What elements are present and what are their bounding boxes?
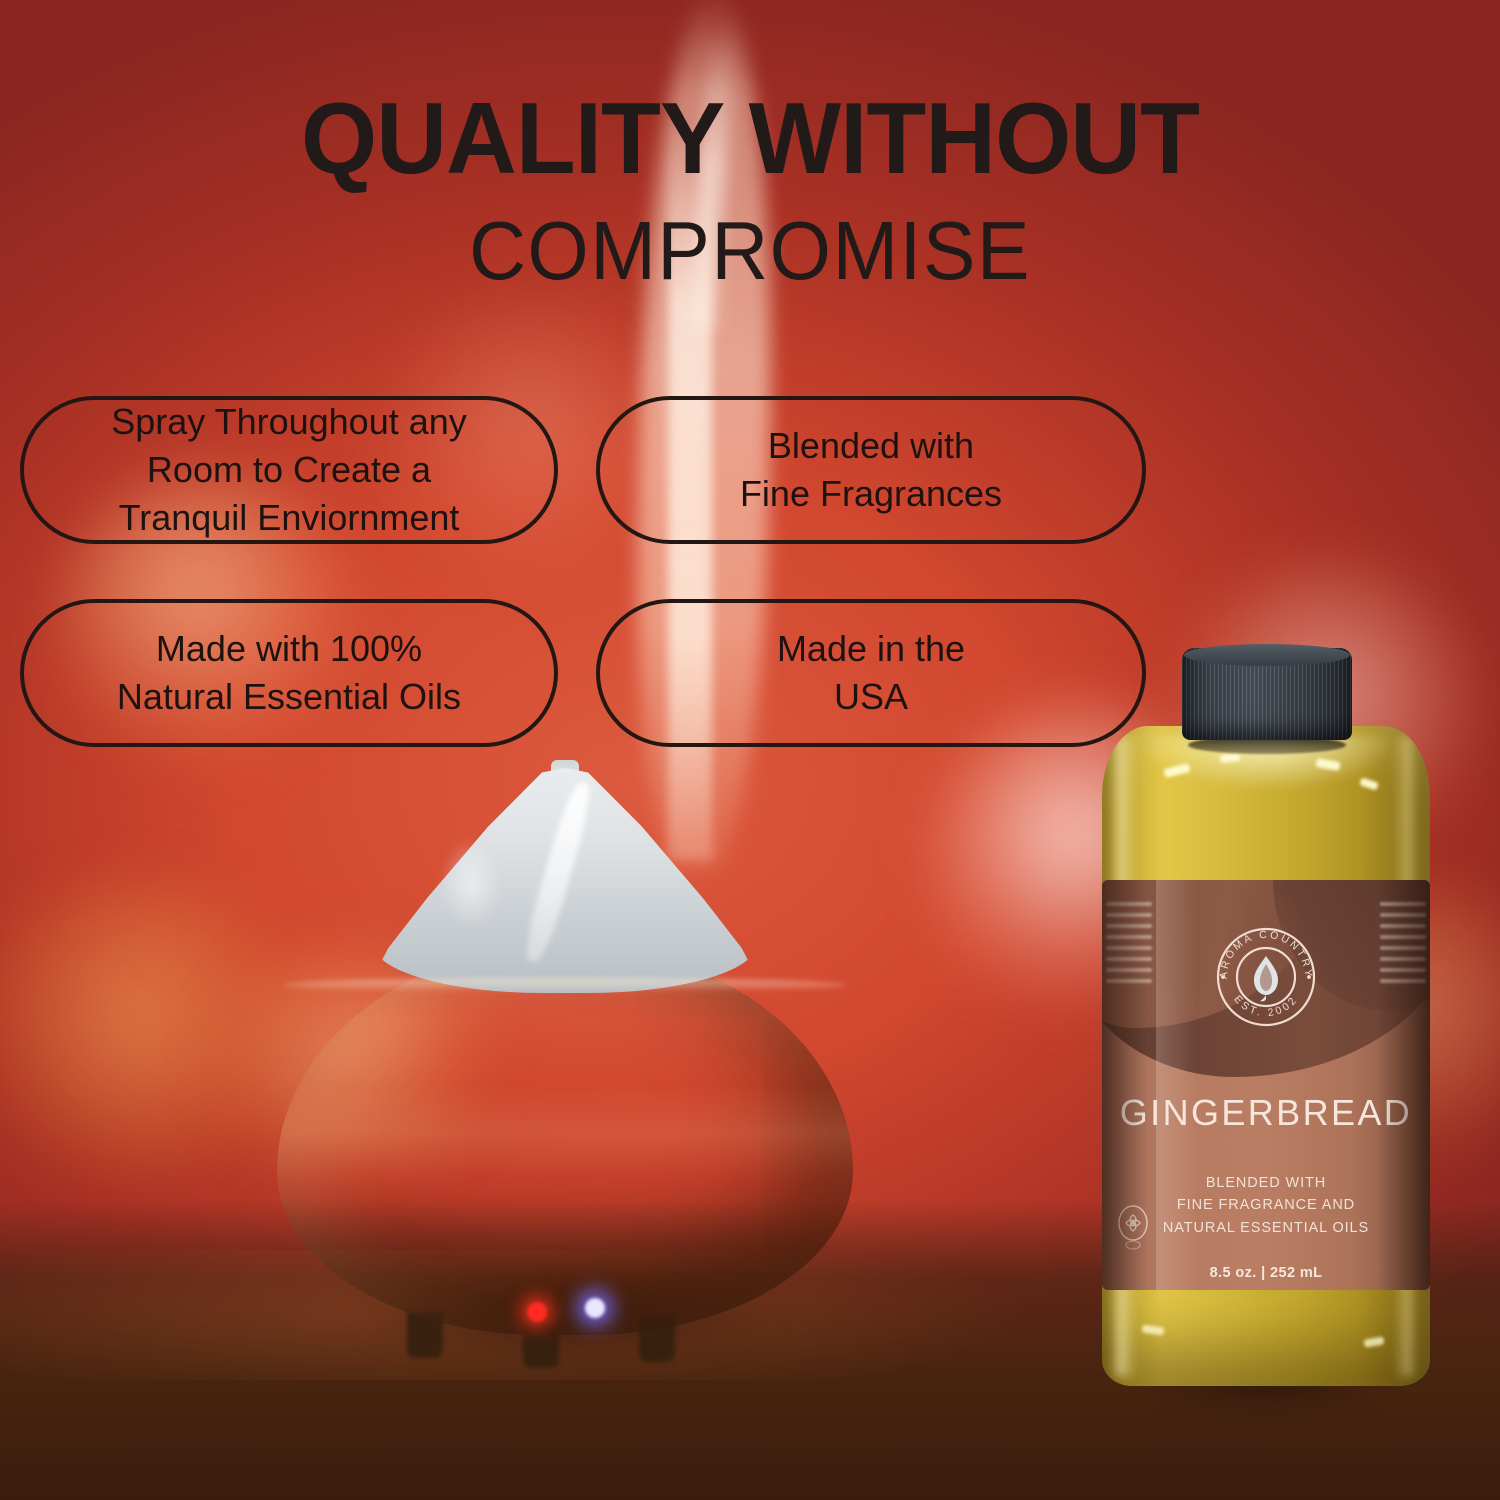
oil-bottle: AROMA COUNTRY EST. 2002 bbox=[1096, 640, 1436, 1410]
feature-pill-made-in-usa: Made in the USA bbox=[596, 599, 1146, 747]
headline-line-1: QUALITY WITHOUT bbox=[23, 88, 1478, 191]
vegan-seal-icon bbox=[1114, 1202, 1152, 1254]
diffuser-gloss-highlight bbox=[441, 838, 501, 930]
product-name: GINGERBREAD bbox=[1102, 1092, 1430, 1134]
headline-line-2: COMPROMISE bbox=[38, 199, 1463, 303]
brand-logo-badge: AROMA COUNTRY EST. 2002 bbox=[1213, 924, 1319, 1030]
feature-pill-spray-throughout-room: Spray Throughout any Room to Create a Tr… bbox=[20, 396, 558, 544]
flame-icon bbox=[1254, 956, 1278, 1001]
feature-pill-blended-fine-fragrances: Blended with Fine Fragrances bbox=[596, 396, 1146, 544]
feature-pill-natural-essential-oils: Made with 100% Natural Essential Oils bbox=[20, 599, 558, 747]
feature-pill-label: Made in the USA bbox=[777, 625, 965, 721]
bottle-cap-top bbox=[1184, 644, 1350, 666]
product-volume: 8.5 oz. | 252 mL bbox=[1102, 1265, 1430, 1281]
product-marketing-image: QUALITY WITHOUT COMPROMISE Spray Through… bbox=[0, 0, 1500, 1500]
bottle-sparkle bbox=[1142, 1325, 1165, 1336]
feature-pill-label: Blended with Fine Fragrances bbox=[740, 422, 1002, 518]
led-indicator-red bbox=[527, 1302, 547, 1322]
led-indicator-blue bbox=[585, 1298, 605, 1318]
label-content: AROMA COUNTRY EST. 2002 bbox=[1102, 880, 1430, 1290]
feature-pill-grid: Spray Throughout any Room to Create a Tr… bbox=[20, 396, 1145, 751]
feature-pill-label: Made with 100% Natural Essential Oils bbox=[117, 625, 461, 721]
diffuser-wood-base bbox=[277, 945, 853, 1335]
diffuser-seam bbox=[283, 978, 847, 992]
essential-oil-diffuser bbox=[255, 760, 875, 1380]
page-title: QUALITY WITHOUT COMPROMISE bbox=[0, 88, 1500, 303]
bottle-sparkle bbox=[1363, 1336, 1384, 1347]
feature-pill-label: Spray Throughout any Room to Create a Tr… bbox=[111, 398, 467, 542]
bottle-label: AROMA COUNTRY EST. 2002 bbox=[1102, 880, 1430, 1290]
